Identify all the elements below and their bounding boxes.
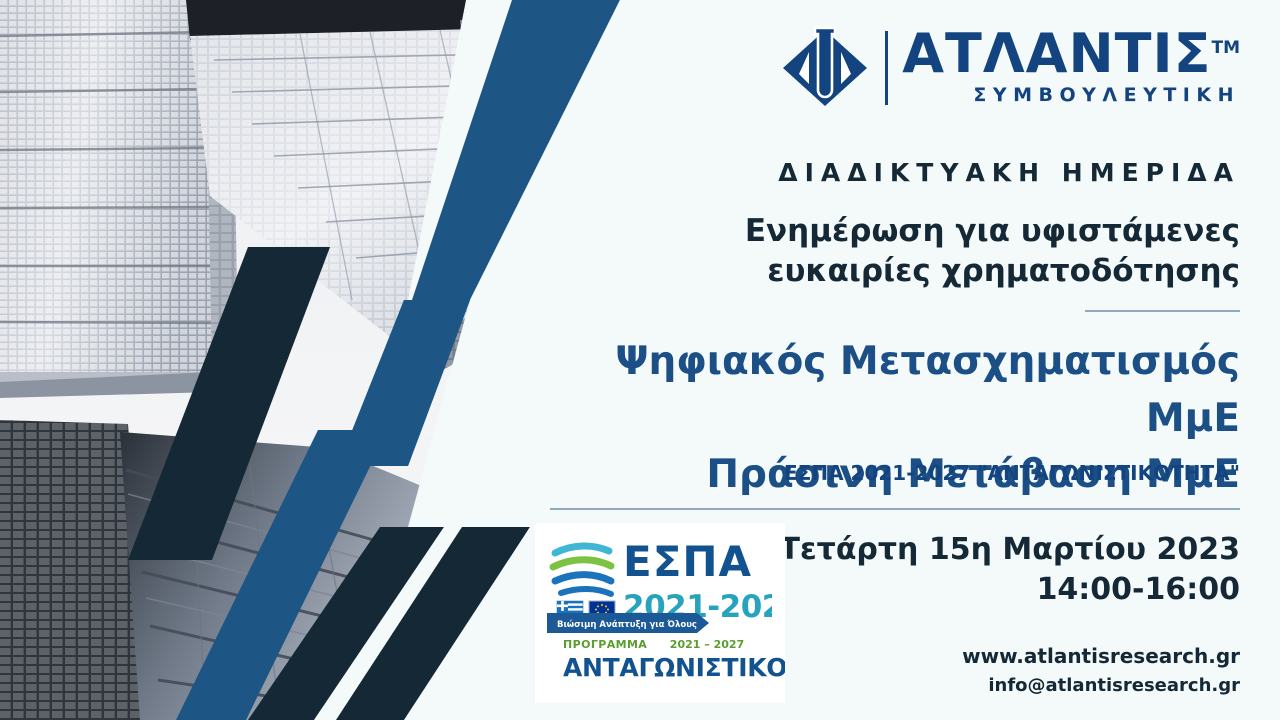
atlantis-diamond-column-icon xyxy=(779,22,871,114)
logo-divider xyxy=(885,31,888,105)
espa-waves-icon xyxy=(553,546,611,594)
antagonistikotita-period: 2021 – 2027 xyxy=(670,638,744,651)
divider-top xyxy=(1085,310,1240,312)
funding-logos-card: ΕΣΠΑ xyxy=(535,523,785,703)
trademark-mark: TM xyxy=(1211,38,1240,58)
event-subtitle: Ενημέρωση για υφιστάμενες ευκαιρίες χρημ… xyxy=(540,212,1240,291)
website-link[interactable]: www.atlantisresearch.gr xyxy=(720,640,1240,672)
webinar-poster: ΑΤΛΑΝΤΙΣTM ΣΥΜΒΟΥΛΕΥΤΙΚΗ ΔΙΑΔΙΚΤΥΑΚΗ ΗΜΕ… xyxy=(0,0,1280,720)
antagonistikotita-kicker: ΠΡΟΓΡΑΜΜΑ xyxy=(563,638,647,651)
subtitle-line-1: Ενημέρωση για υφιστάμενες xyxy=(540,212,1240,252)
divider-bottom xyxy=(550,508,1240,510)
event-datetime: Τετάρτη 15η Μαρτίου 2023 14:00-16:00 xyxy=(720,530,1240,610)
svg-text:ΕΣΠΑ: ΕΣΠΑ xyxy=(623,537,752,586)
antagonistikotita-logo: ΠΡΟΓΡΑΜΜΑ 2021 – 2027 ΑΝΤΑΓΩΝΙΣΤΙΚΟΤΗΤΑ xyxy=(535,628,785,698)
headline-line-1: Ψηφιακός Μετασχηματισμός ΜμΕ xyxy=(540,334,1240,447)
contact-block: www.atlantisresearch.gr info@atlantisres… xyxy=(720,640,1240,701)
brand-name: ΑΤΛΑΝΤΙΣTM xyxy=(902,27,1240,81)
antagonistikotita-name: ΑΝΤΑΓΩΝΙΣΤΙΚΟΤΗΤΑ xyxy=(563,653,785,682)
brand-tagline: ΣΥΜΒΟΥΛΕΥΤΙΚΗ xyxy=(902,81,1240,110)
event-time: 14:00-16:00 xyxy=(720,570,1240,610)
event-date: Τετάρτη 15η Μαρτίου 2023 xyxy=(720,530,1240,570)
programme-caption: ΕΣΠΑ 2021-2027 "ΑΝΤΑΓΩΝΙΣΤΙΚΟΤΗΤΑ" xyxy=(540,461,1240,485)
subtitle-line-2: ευκαιρίες χρηματοδότησης xyxy=(540,252,1240,292)
brand-logo: ΑΤΛΑΝΤΙΣTM ΣΥΜΒΟΥΛΕΥΤΙΚΗ xyxy=(779,22,1240,114)
event-eyebrow: ΔΙΑΔΙΚΤΥΑΚΗ ΗΜΕΡΙΔΑ xyxy=(540,158,1240,187)
email-link[interactable]: info@atlantisresearch.gr xyxy=(720,672,1240,701)
